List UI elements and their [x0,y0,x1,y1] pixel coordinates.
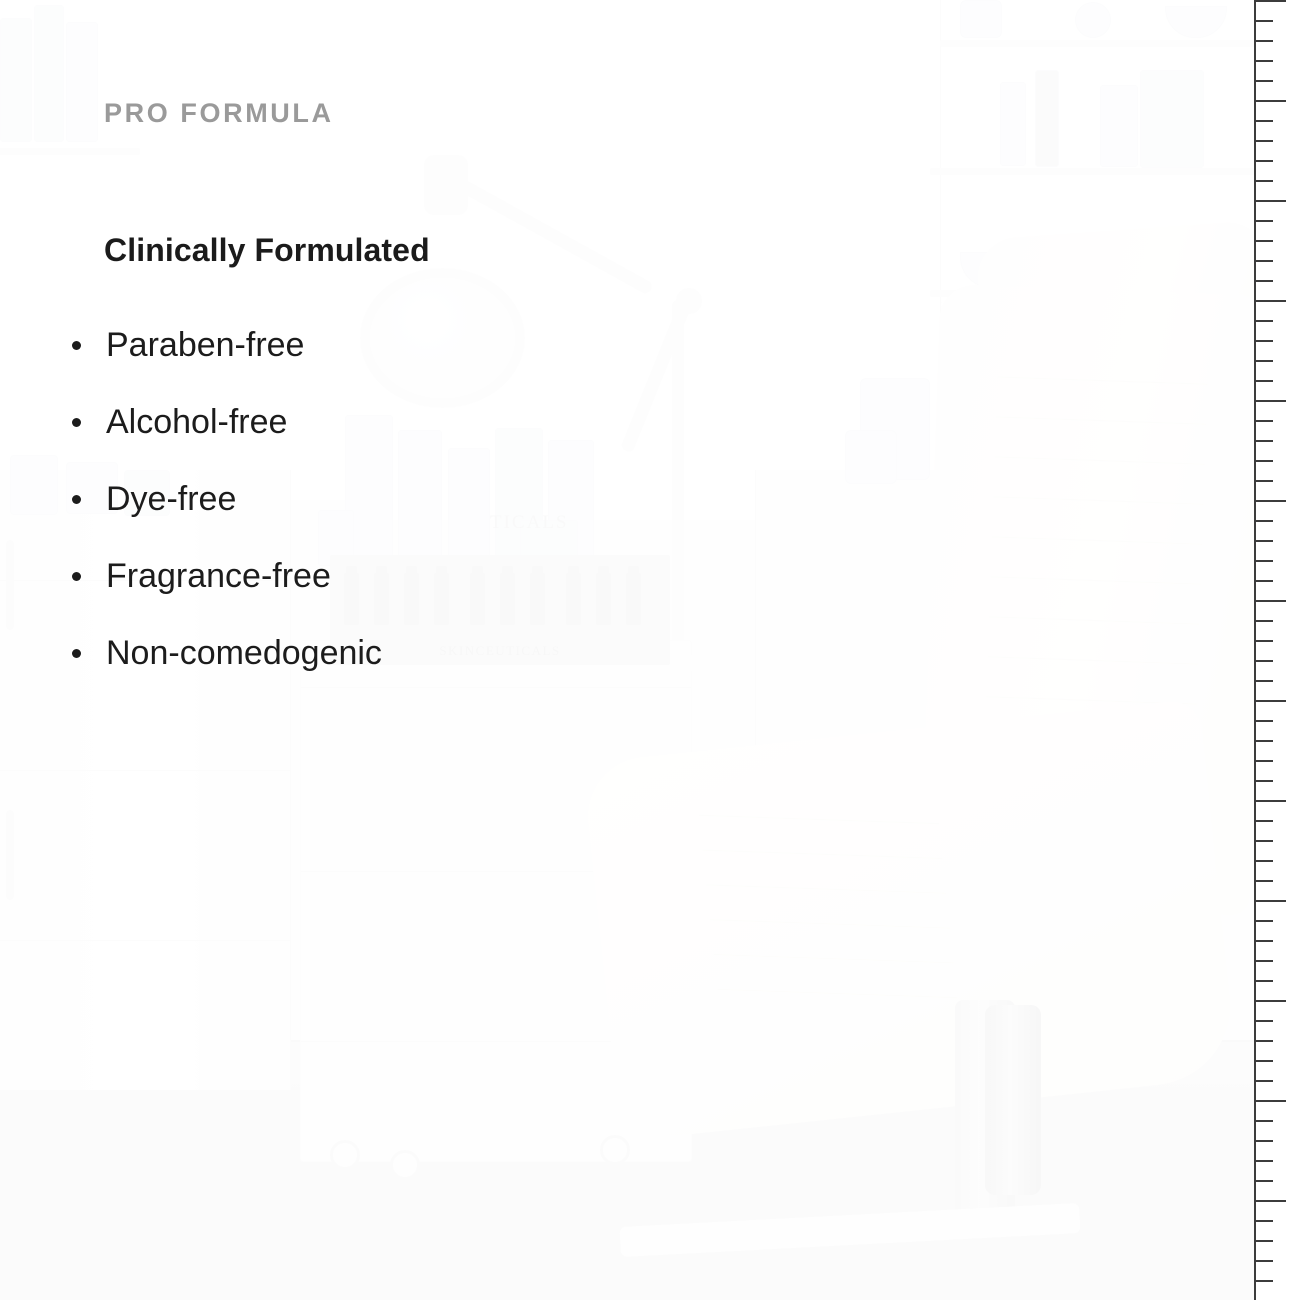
ruler-minor-tick [1256,240,1273,242]
ruler-major-tick [1256,0,1286,2]
ruler-minor-tick [1256,20,1273,22]
product-bottle [34,5,64,142]
ruler-major-tick [1256,500,1286,502]
ruler-minor-tick [1256,1020,1273,1022]
decor-jar [1075,2,1111,38]
product-canister [845,430,897,484]
benefit-label: Fragrance-free [106,557,331,595]
magnifier-lens [360,268,525,408]
ruler-minor-tick [1256,760,1273,762]
ruler-minor-tick [1256,1160,1273,1162]
ruler-minor-tick [1256,660,1273,662]
benefit-item: Alcohol-free [64,402,382,442]
ruler-minor-tick [1256,960,1273,962]
product-bottle [1000,82,1026,166]
ruler-minor-tick [1256,1220,1273,1222]
decor-bowl [1165,6,1227,38]
ruler-minor-tick [1256,480,1273,482]
ruler-minor-tick [1256,320,1273,322]
shelf-upper-right-1 [940,40,1260,47]
ruler-minor-tick [1256,1280,1273,1282]
measurement-scale-strip [1254,0,1300,1300]
ruler-minor-tick [1256,980,1273,982]
ruler-minor-tick [1256,540,1273,542]
ruler-minor-tick [1256,920,1273,922]
benefit-label: Dye-free [106,480,236,518]
product-serum [1035,70,1059,167]
shelf-upper-left [0,148,140,155]
ruler-minor-tick [1256,880,1273,882]
chair-hydraulic-cylinder [985,1005,1041,1195]
product-jar [10,455,58,515]
bullet-dot-icon [72,572,81,581]
ruler-minor-tick [1256,820,1273,822]
ruler-major-tick [1256,400,1286,402]
product-bottle [398,430,442,557]
ruler-minor-tick [1256,560,1273,562]
ruler-minor-tick [1256,740,1273,742]
ruler-minor-tick [1256,1040,1273,1042]
ruler-minor-tick [1256,180,1273,182]
ruler-minor-tick [1256,80,1273,82]
benefit-item: Non-comedogenic [64,633,382,673]
ruler-minor-tick [1256,220,1273,222]
ruler-minor-tick [1256,780,1273,782]
trolley-caster [330,1140,360,1170]
benefit-label: Non-comedogenic [106,634,382,672]
product-box [1140,70,1204,168]
ruler-minor-tick [1256,1240,1273,1242]
ruler-minor-tick [1256,460,1273,462]
ruler-minor-tick [1256,340,1273,342]
ruler-minor-tick [1256,1120,1273,1122]
ruler-major-tick [1256,300,1286,302]
ruler-minor-tick [1256,1080,1273,1082]
cabinet-handle [6,810,14,900]
ruler-minor-tick [1256,840,1273,842]
shelf-upper-right-2 [930,168,1260,175]
ruler-minor-tick [1256,60,1273,62]
ruler-minor-tick [1256,120,1273,122]
benefit-item: Dye-free [64,479,382,519]
ruler-major-tick [1256,600,1286,602]
ruler-minor-tick [1256,260,1273,262]
bullet-dot-icon [72,495,81,504]
lamp-neck [424,155,468,215]
ruler-minor-tick [1256,680,1273,682]
trolley-caster [600,1135,630,1165]
chair-seat [582,699,1238,1142]
ruler-major-tick [1256,100,1286,102]
poster-canvas: TICALS SKINCEUTICALS [0,0,1300,1300]
ruler-major-tick [1256,1000,1286,1002]
benefits-list: Paraben-freeAlcohol-freeDye-freeFragranc… [64,325,382,711]
ruler-minor-tick [1256,860,1273,862]
benefit-label: Paraben-free [106,326,304,364]
ruler-major-tick [1256,700,1286,702]
ruler-minor-tick [1256,40,1273,42]
ruler-minor-tick [1256,640,1273,642]
eyebrow-label: PRO FORMULA [104,98,334,129]
ruler-minor-tick [1256,280,1273,282]
product-bottle [0,18,32,142]
ruler-minor-tick [1256,360,1273,362]
cabinet-handle [6,540,14,630]
ruler-minor-tick [1256,1060,1273,1062]
ruler-minor-tick [1256,940,1273,942]
bullet-dot-icon [72,418,81,427]
ruler-major-tick [1256,1200,1286,1202]
ruler-major-tick [1256,800,1286,802]
benefit-item: Fragrance-free [64,556,382,596]
ruler-minor-tick [1256,1140,1273,1142]
ruler-minor-tick [1256,380,1273,382]
ruler-major-tick [1256,200,1286,202]
ruler-minor-tick [1256,420,1273,422]
ruler-minor-tick [1256,160,1273,162]
product-bottle [448,448,490,558]
decor-jar [960,0,1002,38]
product-box [1100,85,1138,167]
ruler-minor-tick [1256,620,1273,622]
trolley-caster [390,1150,420,1180]
ruler-minor-tick [1256,1260,1273,1262]
ruler-minor-tick [1256,580,1273,582]
ruler-rail [1254,0,1256,1300]
ruler-minor-tick [1256,1180,1273,1182]
ruler-minor-tick [1256,720,1273,722]
ruler-major-tick [1256,900,1286,902]
ruler-major-tick [1256,1100,1286,1102]
headline: Clinically Formulated [104,232,430,269]
wall-panel [630,0,761,520]
bullet-dot-icon [72,649,81,658]
bullet-dot-icon [72,341,81,350]
product-bottle [66,22,98,142]
ruler-minor-tick [1256,440,1273,442]
ruler-minor-tick [1256,520,1273,522]
benefit-item: Paraben-free [64,325,382,365]
benefit-label: Alcohol-free [106,403,287,441]
ruler-minor-tick [1256,140,1273,142]
shelf-product-label: TICALS [490,512,569,534]
